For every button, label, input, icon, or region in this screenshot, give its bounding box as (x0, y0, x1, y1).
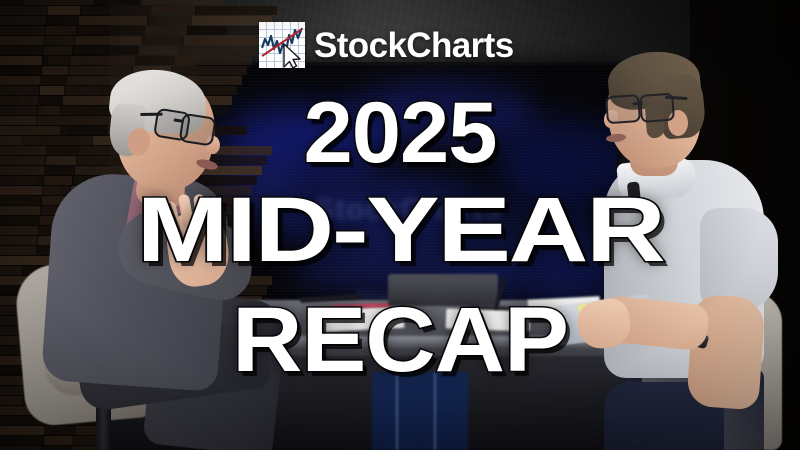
stockcharts-wordmark: StockCharts (314, 28, 514, 63)
logo-mark-svg (259, 22, 305, 68)
stockcharts-logo: StockCharts (259, 22, 514, 68)
title-line-midyear: MID-YEAR (0, 190, 800, 271)
title-line-recap: RECAP (0, 300, 800, 381)
stockcharts-chart-cursor-icon (259, 22, 305, 68)
title-line-year: 2025 (0, 96, 800, 172)
youtube-thumbnail: StockCharts StockCharts (0, 0, 800, 450)
